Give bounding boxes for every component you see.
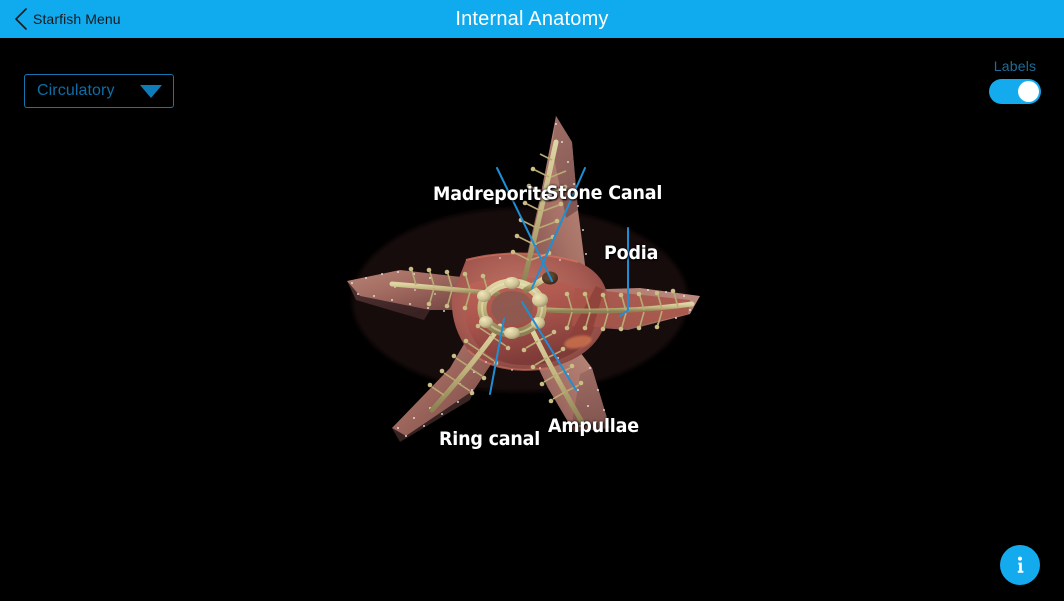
labels-toggle-switch[interactable]: [989, 79, 1041, 104]
labels-toggle-knob: [1018, 81, 1039, 102]
page-title: Internal Anatomy: [0, 0, 1064, 38]
app-root: Starfish Menu Internal Anatomy: [0, 0, 1064, 601]
annotation-label-stone-canal: Stone Canal: [546, 182, 662, 204]
starfish-anatomy-model[interactable]: [0, 38, 1064, 601]
anatomy-system-dropdown[interactable]: Circulatory: [24, 74, 174, 108]
back-to-starfish-menu-button[interactable]: Starfish Menu: [14, 0, 121, 38]
info-icon: [1008, 553, 1032, 577]
annotation-label-ampullae: Ampullae: [548, 415, 639, 437]
chevron-down-icon: [140, 85, 162, 98]
chevron-left-icon: [14, 8, 28, 30]
model-viewport[interactable]: Madreporite Stone Canal Podia Ampullae R…: [0, 38, 1064, 601]
labels-toggle-caption: Labels: [994, 58, 1036, 74]
starfish-body: [347, 116, 700, 442]
annotation-label-podia: Podia: [604, 242, 658, 264]
back-button-label: Starfish Menu: [33, 12, 121, 26]
app-header: Starfish Menu Internal Anatomy: [0, 0, 1064, 38]
annotation-label-ring-canal: Ring canal: [439, 428, 540, 450]
annotation-label-madreporite: Madreporite: [433, 183, 553, 205]
info-button[interactable]: [1000, 545, 1040, 585]
labels-toggle-control[interactable]: Labels: [989, 58, 1041, 104]
anatomy-system-selected-value: Circulatory: [37, 82, 115, 100]
